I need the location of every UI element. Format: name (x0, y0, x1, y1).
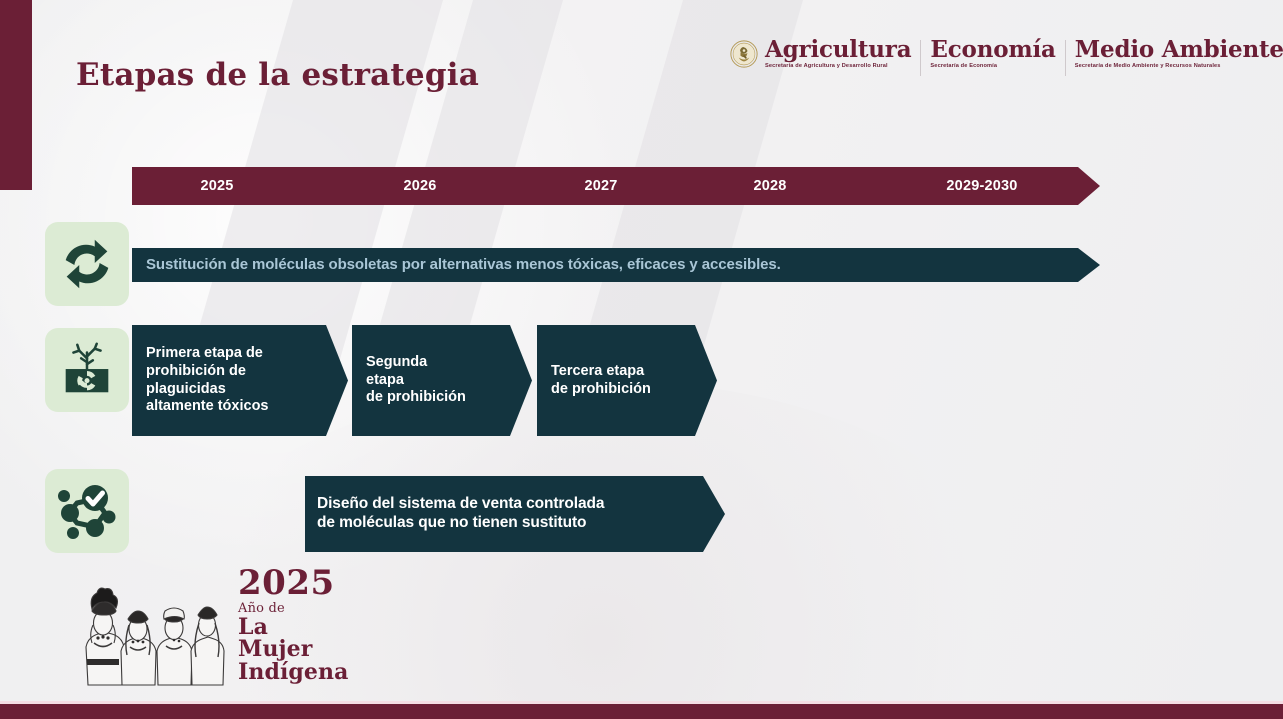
logo-economia-text: Economía Secretaría de Economía (930, 38, 1055, 70)
row-3-bar-1: Diseño del sistema de venta controlada d… (305, 476, 725, 552)
logo-economia: Economía Secretaría de Economía (921, 38, 1064, 70)
timeline-year-2027: 2027 (584, 178, 617, 194)
logo-agricultura-name: Agricultura (765, 38, 911, 61)
timeline-arrow: 2025 2026 2027 2028 2029-2030 (132, 167, 1100, 205)
toxic-tree-hazard-icon (56, 339, 118, 401)
row-2-bar-3-label: Tercera etapa de prohibición (551, 363, 651, 398)
mexico-seal-icon (730, 40, 758, 68)
logo-medio-ambiente-subtitle: Secretaría de Medio Ambiente y Recursos … (1075, 64, 1283, 70)
logo-agricultura-text: Agricultura Secretaría de Agricultura y … (765, 38, 911, 70)
page-title: Etapas de la estrategia (76, 57, 479, 93)
timeline-year-2028: 2028 (753, 178, 786, 194)
timeline-year-2025: 2025 (200, 178, 233, 194)
row-3-icon-tile (45, 469, 129, 553)
footer-brand-year: 2025 (238, 566, 348, 600)
header-logo-bar: Agricultura Secretaría de Agricultura y … (730, 38, 1283, 80)
logo-agricultura-subtitle: Secretaría de Agricultura y Desarrollo R… (765, 64, 911, 70)
logo-agricultura: Agricultura Secretaría de Agricultura y … (730, 38, 920, 70)
footer-brand-line2: Indígena (238, 661, 348, 683)
logo-medio-ambiente-name: Medio Ambiente (1075, 38, 1283, 61)
timeline-year-2026: 2026 (403, 178, 436, 194)
row-2-bar-2: Segunda etapa de prohibición (352, 325, 532, 436)
recycle-arrows-icon (56, 233, 118, 295)
row-3-bar-1-label: Diseño del sistema de venta controlada d… (317, 495, 604, 533)
bottom-accent-bar (0, 704, 1283, 719)
row-1-bar-1: Sustitución de moléculas obsoletas por a… (132, 248, 1100, 282)
four-indigenous-women-illustration (70, 581, 230, 686)
logo-economia-subtitle: Secretaría de Economía (930, 64, 1055, 70)
slide-canvas: Etapas de la estrategia Agricultura Secr… (0, 0, 1283, 719)
row-1-bar-1-label: Sustitución de moléculas obsoletas por a… (146, 256, 781, 274)
row-2-bar-1: Primera etapa de prohibición de plaguici… (132, 325, 348, 436)
left-accent-bar (0, 0, 32, 190)
row-2-icon-tile (45, 328, 129, 412)
row-2-bar-3: Tercera etapa de prohibición (537, 325, 717, 436)
logo-medio-ambiente: Medio Ambiente Secretaría de Medio Ambie… (1066, 38, 1283, 70)
row-2-bar-1-label: Primera etapa de prohibición de plaguici… (146, 345, 269, 416)
logo-economia-name: Economía (930, 38, 1055, 61)
footer-brand: 2025 Año de La Mujer Indígena (70, 578, 345, 686)
molecule-check-icon (55, 479, 119, 543)
timeline-year-2029-2030: 2029-2030 (946, 178, 1017, 194)
footer-brand-text: 2025 Año de La Mujer Indígena (238, 566, 348, 683)
row-2-bar-2-label: Segunda etapa de prohibición (366, 354, 466, 407)
footer-brand-line1: La Mujer (238, 616, 348, 660)
row-1-icon-tile (45, 222, 129, 306)
logo-medio-ambiente-text: Medio Ambiente Secretaría de Medio Ambie… (1075, 38, 1283, 70)
